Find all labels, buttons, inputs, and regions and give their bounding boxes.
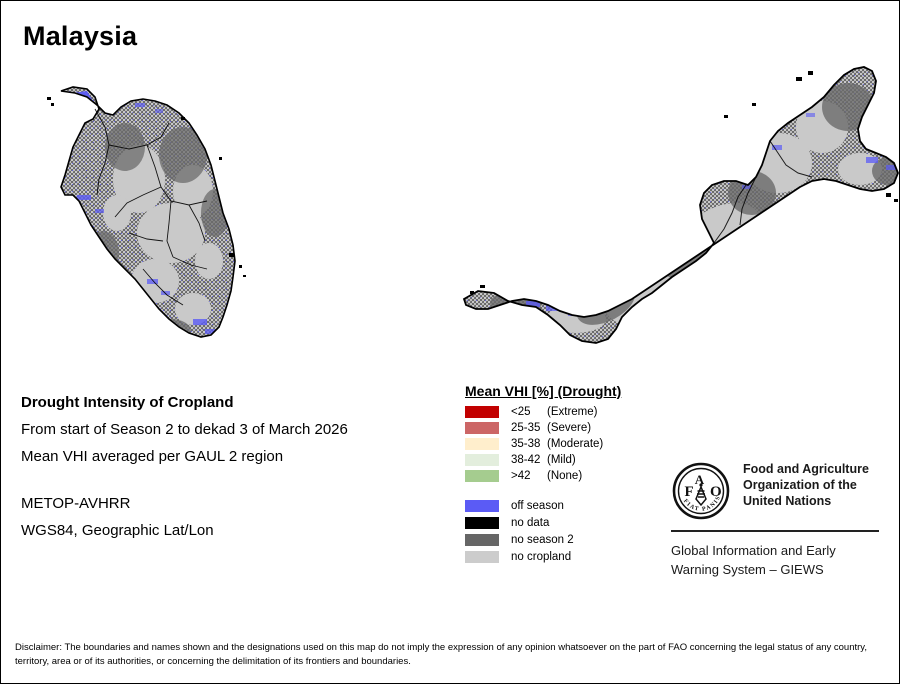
page-title: Malaysia	[23, 21, 137, 52]
legend-swatch-severe	[465, 422, 499, 434]
legend-item-mild[interactable]: 38-42 (Mild)	[465, 452, 665, 468]
giews-line-2: Warning System – GIEWS	[671, 560, 886, 579]
info-block: Drought Intensity of Cropland From start…	[21, 389, 451, 544]
legend-swatch-no-data	[465, 517, 499, 529]
info-period: From start of Season 2 to dekad 3 of Mar…	[21, 416, 451, 443]
legend-label-severe: (Severe)	[547, 422, 591, 434]
legend-label-no-data: no data	[511, 517, 549, 529]
legend-spacer	[465, 484, 665, 497]
map-poster: Malaysia	[0, 0, 900, 684]
legend-range-none: >42	[511, 470, 547, 482]
legend-swatch-none	[465, 470, 499, 482]
fao-divider	[671, 530, 879, 532]
fao-branding: F A O FIAT PANIS Food and Agriculture	[671, 461, 886, 579]
svg-text:F: F	[685, 484, 694, 500]
legend-swatch-moderate	[465, 438, 499, 450]
legend-item-no-season-2[interactable]: no season 2	[465, 531, 665, 548]
info-method: Mean VHI averaged per GAUL 2 region	[21, 443, 451, 470]
fao-organization-name: Food and Agriculture Organization of the…	[743, 461, 869, 509]
legend-range-mild: 38-42	[511, 454, 547, 466]
fao-org-line-2: Organization of the	[743, 477, 869, 493]
legend-label-no-season-2: no season 2	[511, 534, 574, 546]
legend-swatch-off-season	[465, 500, 499, 512]
legend-item-no-data[interactable]: no data	[465, 514, 665, 531]
legend-range-moderate: 35-38	[511, 438, 547, 450]
legend-item-extreme[interactable]: <25 (Extreme)	[465, 404, 665, 420]
legend-title: Mean VHI [%] (Drought)	[465, 383, 665, 399]
fao-org-line-3: United Nations	[743, 493, 869, 509]
giews-name: Global Information and Early Warning Sys…	[671, 541, 886, 579]
legend-swatch-no-cropland	[465, 551, 499, 563]
info-sensor: METOP-AVHRR	[21, 490, 451, 517]
fao-logo-icon: F A O FIAT PANIS	[671, 461, 731, 521]
legend-item-none[interactable]: >42 (None)	[465, 468, 665, 484]
info-spacer	[21, 470, 451, 490]
giews-line-1: Global Information and Early	[671, 541, 886, 560]
legend-label-none: (None)	[547, 470, 582, 482]
map-east-malaysia-borneo[interactable]	[456, 53, 900, 353]
legend: Mean VHI [%] (Drought) <25 (Extreme) 25-…	[465, 383, 665, 565]
legend-label-off-season: off season	[511, 500, 564, 512]
legend-range-extreme: <25	[511, 406, 547, 418]
legend-label-extreme: (Extreme)	[547, 406, 597, 418]
legend-item-severe[interactable]: 25-35 (Severe)	[465, 420, 665, 436]
legend-item-no-cropland[interactable]: no cropland	[465, 548, 665, 565]
legend-range-severe: 25-35	[511, 422, 547, 434]
legend-label-mild: (Mild)	[547, 454, 576, 466]
legend-label-moderate: (Moderate)	[547, 438, 603, 450]
map-peninsular-malaysia[interactable]	[43, 83, 268, 345]
legend-item-moderate[interactable]: 35-38 (Moderate)	[465, 436, 665, 452]
legend-swatch-extreme	[465, 406, 499, 418]
legend-swatch-no-season-2	[465, 534, 499, 546]
fao-org-line-1: Food and Agriculture	[743, 461, 869, 477]
legend-item-off-season[interactable]: off season	[465, 497, 665, 514]
info-projection: WGS84, Geographic Lat/Lon	[21, 517, 451, 544]
legend-label-no-cropland: no cropland	[511, 551, 571, 563]
info-heading: Drought Intensity of Cropland	[21, 389, 451, 416]
legend-swatch-mild	[465, 454, 499, 466]
disclaimer-text: Disclaimer: The boundaries and names sho…	[15, 641, 880, 669]
